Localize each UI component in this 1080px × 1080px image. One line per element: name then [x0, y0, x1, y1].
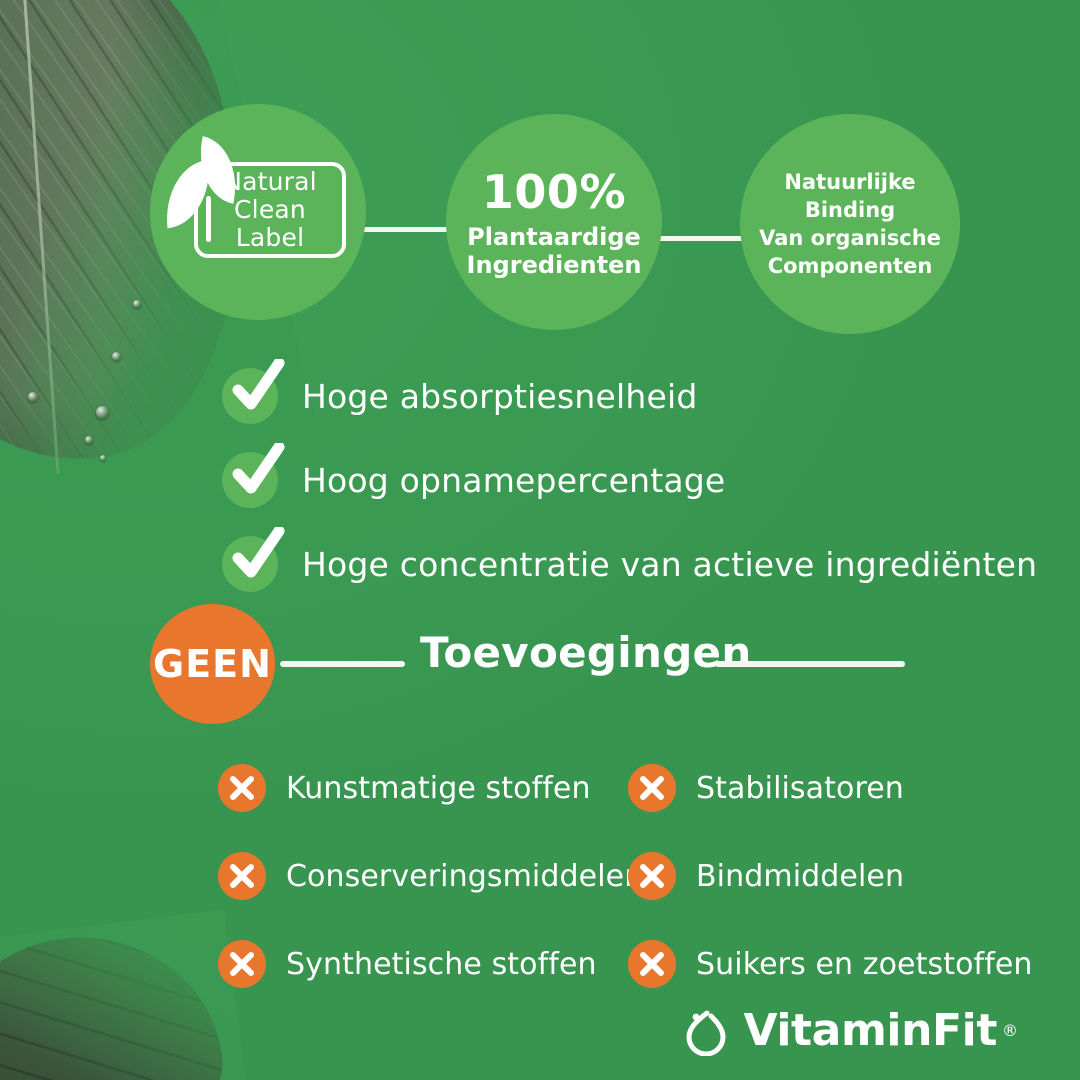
geen-badge: GEEN	[150, 604, 275, 724]
check-badge	[222, 452, 278, 508]
x-icon	[227, 949, 257, 979]
badge-natural-clean-label: Natural Clean Label	[150, 104, 366, 320]
brand-name: VitaminFit	[743, 1005, 997, 1056]
benefit-item: Hoog opnamepercentage	[222, 438, 1042, 522]
excluded-label: Suikers en zoetstoffen	[696, 947, 1033, 982]
water-droplet	[112, 352, 121, 361]
plant-based-percent: 100%	[467, 165, 642, 219]
excluded-item: Conserveringsmiddelen	[218, 852, 628, 900]
water-droplet	[96, 406, 109, 419]
water-droplet	[100, 455, 106, 461]
badge-connector-line-1	[362, 227, 454, 232]
excluded-label: Conserveringsmiddelen	[286, 859, 643, 894]
benefit-label: Hoge concentratie van actieve ingrediënt…	[302, 545, 1037, 584]
divider-title: Toevoegingen	[420, 628, 752, 677]
excluded-item: Synthetische stoffen	[218, 940, 628, 988]
excluded-item: Bindmiddelen	[628, 852, 904, 900]
water-drop-icon	[681, 1006, 731, 1056]
x-icon	[637, 773, 667, 803]
x-icon	[227, 773, 257, 803]
excluded-item: Suikers en zoetstoffen	[628, 940, 1033, 988]
benefit-item: Hoge concentratie van actieve ingrediënt…	[222, 522, 1042, 606]
plant-based-line-1: Plantaardige	[467, 223, 642, 251]
plant-based-line-2: Ingredienten	[467, 251, 642, 279]
badge-natural-binding: Natuurlijke Binding Van organische Compo…	[740, 114, 960, 334]
natural-binding-line-4: Componenten	[759, 252, 941, 280]
check-badge	[222, 536, 278, 592]
clean-label-frame: Natural Clean Label	[194, 162, 346, 258]
excluded-list: Kunstmatige stoffen Stabilisatoren Cons	[218, 744, 1058, 1008]
excluded-row: Conserveringsmiddelen Bindmiddelen	[218, 832, 1058, 920]
x-badge	[628, 852, 676, 900]
check-icon	[229, 527, 287, 585]
x-badge	[218, 940, 266, 988]
x-icon	[227, 861, 257, 891]
excluded-item: Kunstmatige stoffen	[218, 764, 628, 812]
no-additives-divider: GEEN Toevoegingen	[150, 604, 1050, 724]
natural-binding-line-1: Natuurlijke	[759, 168, 941, 196]
badge-plant-based: 100% Plantaardige Ingredienten	[446, 114, 662, 330]
excluded-label: Synthetische stoffen	[286, 947, 597, 982]
benefit-item: Hoge absorptiesnelheid	[222, 354, 1042, 438]
x-badge	[218, 764, 266, 812]
water-droplet	[28, 392, 38, 402]
poster-canvas: Natural Clean Label 100% Plantaardige In…	[0, 0, 1080, 1080]
divider-line-left	[280, 661, 405, 667]
excluded-item: Stabilisatoren	[628, 764, 904, 812]
excluded-row: Synthetische stoffen Suikers en zoetstof…	[218, 920, 1058, 1008]
trademark-symbol: ®	[1002, 1021, 1018, 1040]
leaf-photo-bottom-left	[0, 921, 232, 1080]
excluded-label: Bindmiddelen	[696, 859, 904, 894]
x-icon	[637, 949, 667, 979]
benefit-label: Hoge absorptiesnelheid	[302, 377, 698, 416]
brand-logo: VitaminFit ®	[681, 1005, 1018, 1056]
excluded-row: Kunstmatige stoffen Stabilisatoren	[218, 744, 1058, 832]
natural-binding-line-2: Binding	[759, 196, 941, 224]
x-icon	[637, 861, 667, 891]
check-badge	[222, 368, 278, 424]
benefits-list: Hoge absorptiesnelheid Hoog opnamepercen…	[222, 354, 1042, 606]
x-badge	[628, 940, 676, 988]
geen-label: GEEN	[153, 642, 272, 686]
divider-line-right	[715, 661, 905, 667]
badge-connector-line-2	[656, 236, 748, 241]
check-icon	[229, 443, 287, 501]
excluded-label: Stabilisatoren	[696, 771, 904, 806]
x-badge	[628, 764, 676, 812]
clean-label-line-2: Clean Label	[198, 196, 342, 252]
water-droplet	[85, 436, 93, 444]
clean-label-line-1: Natural	[223, 168, 317, 196]
water-droplet	[133, 300, 141, 308]
check-icon	[229, 359, 287, 417]
x-badge	[218, 852, 266, 900]
natural-binding-line-3: Van organische	[759, 224, 941, 252]
excluded-label: Kunstmatige stoffen	[286, 771, 591, 806]
benefit-label: Hoog opnamepercentage	[302, 461, 725, 500]
